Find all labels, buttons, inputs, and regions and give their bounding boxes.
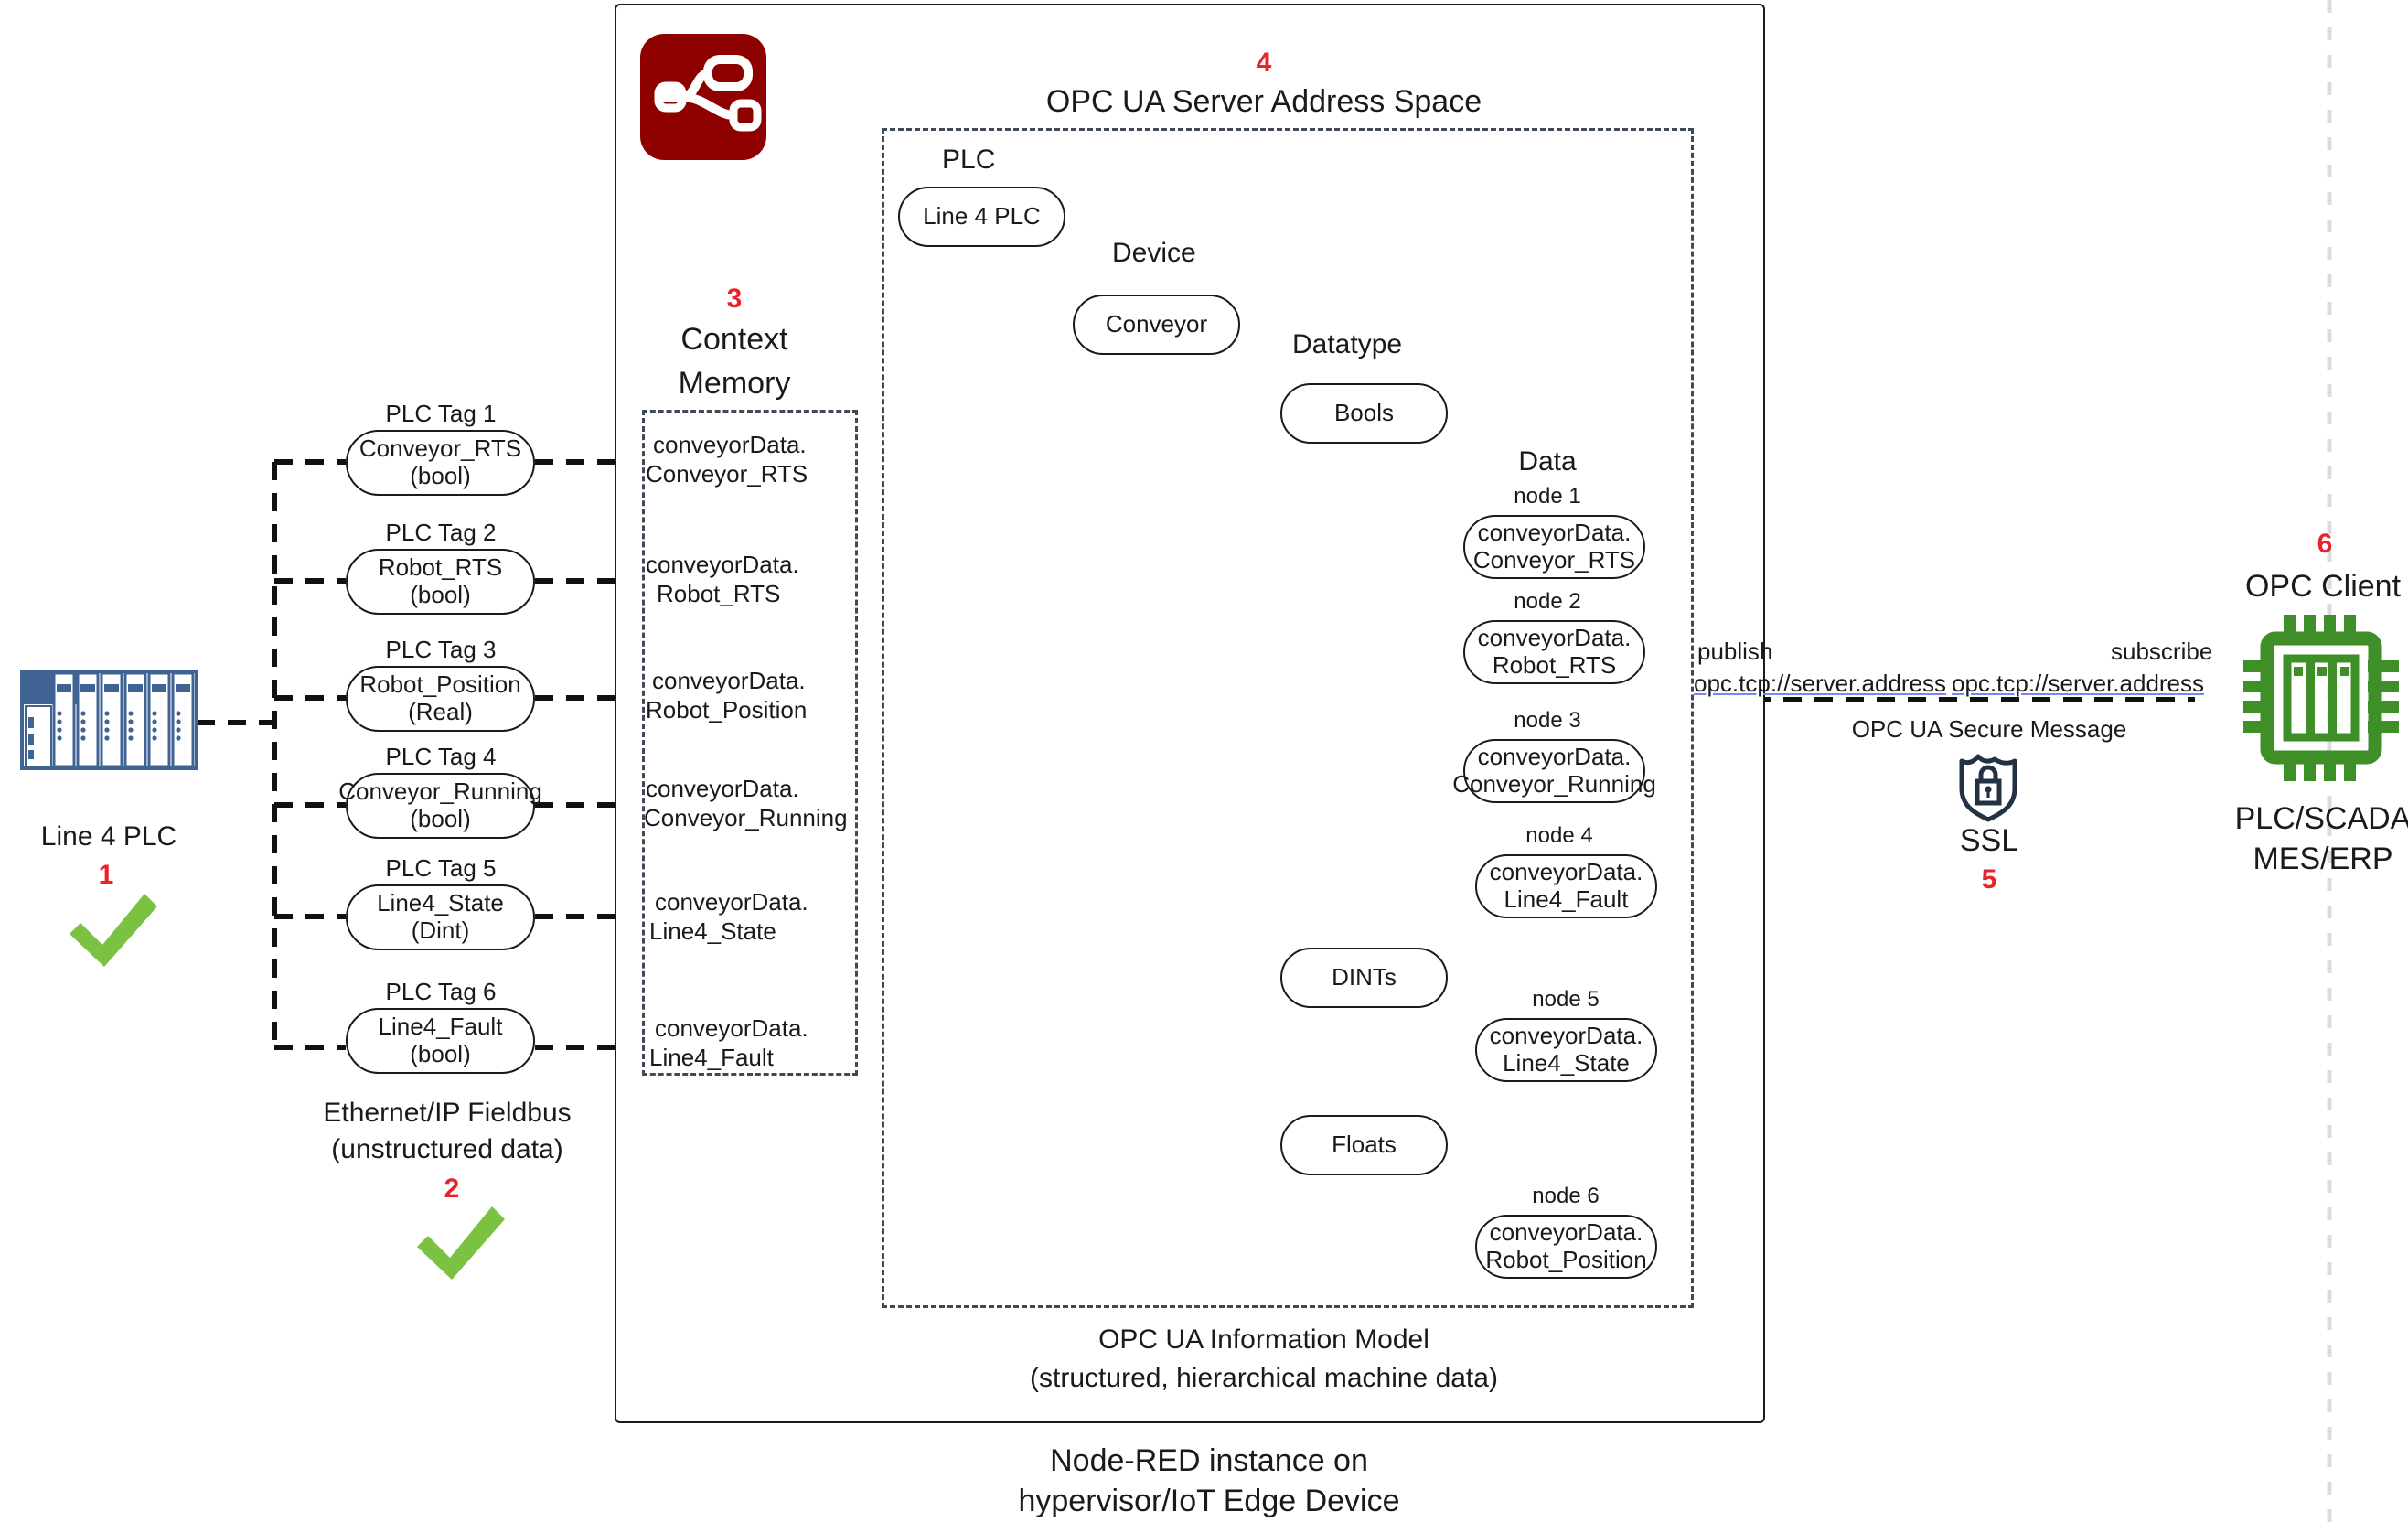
plc-tag-2-pill[interactable]: Robot_RTS (bool) [346,549,535,615]
node-red-title-line2: hypervisor/IoT Edge Device [1018,1484,1399,1518]
client-sub-line2: MES/ERP [2253,842,2392,876]
shield-lock-icon [1954,750,2022,828]
plc-tag-5-name: Line4_State [377,890,504,917]
green-check-icon-2 [410,1195,508,1292]
data-node-6-caption: node 6 [1532,1185,1599,1209]
data-node-4-prefix: conveyorData. [1490,859,1643,886]
context-entry-2-suffix: Robot_RTS [657,581,780,607]
node-red-logo-icon [640,34,766,160]
data-node-5[interactable]: conveyorData. Line4_State [1475,1018,1657,1082]
marker-6: 6 [2317,529,2333,560]
plc-tag-5-caption: PLC Tag 5 [386,855,497,882]
data-node-3[interactable]: conveyorData. Conveyor_Running [1463,739,1645,803]
plc-tag-2-caption: PLC Tag 2 [386,520,497,546]
plc-folder-node[interactable]: Line 4 PLC [898,187,1065,247]
context-entry-5-suffix: Line4_State [649,918,776,945]
datatype-folder-caption: Datatype [1292,329,1402,360]
opc-client-title: OPC Client [2245,569,2401,604]
data-node-3-suffix: Conveyor_Running [1452,771,1656,799]
data-node-3-caption: node 3 [1514,709,1580,734]
device-folder-node-label: Conveyor [1106,311,1207,338]
subscribe-url[interactable]: opc.tcp://server.address [1952,670,2204,697]
marker-5: 5 [1982,864,1997,895]
data-node-1-prefix: conveyorData. [1478,520,1632,547]
data-node-6[interactable]: conveyorData. Robot_Position [1475,1215,1657,1279]
data-node-2-caption: node 2 [1514,590,1580,615]
data-node-1[interactable]: conveyorData. Conveyor_RTS [1463,515,1645,579]
plc-tag-6-type: (bool) [410,1041,470,1068]
plc-tag-5-pill[interactable]: Line4_State (Dint) [346,884,535,950]
data-node-2-prefix: conveyorData. [1478,625,1632,652]
diagram-canvas: Line 4 PLC 1 PLC Tag 1 Conveyor_RTS (boo… [0,0,2408,1533]
datatype-node-bools-label: Bools [1334,400,1394,427]
context-entry-1-suffix: Conveyor_RTS [646,461,808,488]
datatype-node-floats-label: Floats [1332,1131,1397,1159]
plc-tag-1-pill[interactable]: Conveyor_RTS (bool) [346,430,535,496]
publish-label: publish [1697,638,1772,665]
plc-tag-5-type: (Dint) [412,917,470,945]
data-folder-caption: Data [1518,446,1576,477]
datatype-node-floats[interactable]: Floats [1280,1115,1448,1175]
plc-tag-6-pill[interactable]: Line4_Fault (bool) [346,1008,535,1074]
data-node-1-caption: node 1 [1514,485,1580,509]
data-node-4[interactable]: conveyorData. Line4_Fault [1475,854,1657,918]
plc-tag-2-type: (bool) [410,582,470,609]
context-entry-6-suffix: Line4_Fault [649,1045,774,1071]
datatype-node-bools[interactable]: Bools [1280,383,1448,444]
plc-tag-6-caption: PLC Tag 6 [386,979,497,1005]
plc-tag-3-pill[interactable]: Robot_Position (Real) [346,666,535,732]
data-node-4-caption: node 4 [1525,824,1592,849]
secure-message-label: OPC UA Secure Message [1852,716,2127,743]
data-node-6-suffix: Robot_Position [1485,1247,1646,1274]
context-entry-4-prefix: conveyorData. [646,776,799,802]
data-node-2-suffix: Robot_RTS [1493,652,1616,680]
context-memory-box [642,410,858,1076]
data-node-5-caption: node 5 [1532,988,1599,1013]
device-folder-caption: Device [1112,238,1196,269]
plc-tag-3-type: (Real) [408,699,473,726]
plc-tag-1-type: (bool) [410,463,470,490]
fieldbus-label-line1: Ethernet/IP Fieldbus [323,1098,571,1129]
data-node-1-suffix: Conveyor_RTS [1473,547,1635,574]
plc-tag-1-caption: PLC Tag 1 [386,401,497,427]
line4-plc-label: Line 4 PLC [41,821,177,852]
data-node-2[interactable]: conveyorData. Robot_RTS [1463,620,1645,684]
plc-tag-6-name: Line4_Fault [379,1013,503,1041]
plc-rack-icon [20,670,198,770]
context-entry-4-suffix: Conveyor_Running [644,805,848,831]
data-node-4-suffix: Line4_Fault [1504,886,1629,914]
cpu-chip-icon [2243,615,2399,786]
plc-tag-4-type: (bool) [410,806,470,833]
ssl-label: SSL [1960,823,2018,858]
marker-3: 3 [727,284,743,315]
data-node-5-prefix: conveyorData. [1490,1023,1643,1050]
context-entry-1-prefix: conveyorData. [653,432,807,458]
context-entry-3-suffix: Robot_Position [646,697,807,724]
information-model-line2: (structured, hierarchical machine data) [1030,1363,1498,1394]
client-sub-line1: PLC/SCADA [2235,801,2408,836]
green-check-icon-1 [62,883,161,979]
marker-4: 4 [1257,48,1272,79]
plc-tag-4-name: Conveyor_Running [338,778,542,806]
publish-url[interactable]: opc.tcp://server.address [1694,670,1946,697]
data-node-5-suffix: Line4_State [1503,1050,1630,1077]
device-folder-node[interactable]: Conveyor [1073,295,1240,355]
plc-folder-node-label: Line 4 PLC [923,203,1041,230]
datatype-node-dints[interactable]: DINTs [1280,948,1448,1008]
plc-tag-4-caption: PLC Tag 4 [386,744,497,770]
plc-tag-3-caption: PLC Tag 3 [386,637,497,663]
plc-tag-1-name: Conveyor_RTS [359,435,521,463]
plc-tag-3-name: Robot_Position [359,671,520,699]
plc-tag-2-name: Robot_RTS [379,554,502,582]
datatype-node-dints-label: DINTs [1332,964,1397,992]
context-memory-title-line1: Context [680,322,787,357]
context-entry-5-prefix: conveyorData. [655,889,808,916]
data-node-3-prefix: conveyorData. [1478,744,1632,771]
context-memory-title-line2: Memory [679,366,791,401]
data-node-6-prefix: conveyorData. [1490,1219,1643,1247]
context-entry-2-prefix: conveyorData. [646,552,799,578]
plc-folder-caption: PLC [942,145,995,176]
plc-tag-4-pill[interactable]: Conveyor_Running (bool) [346,773,535,839]
context-entry-3-prefix: conveyorData. [652,668,806,694]
information-model-line1: OPC UA Information Model [1098,1324,1429,1356]
subscribe-label: subscribe [2111,638,2212,665]
node-red-title-line1: Node-RED instance on [1050,1443,1368,1478]
context-entry-6-prefix: conveyorData. [655,1015,808,1042]
address-space-title: OPC UA Server Address Space [1046,84,1482,119]
fieldbus-label-line2: (unstructured data) [331,1134,562,1165]
